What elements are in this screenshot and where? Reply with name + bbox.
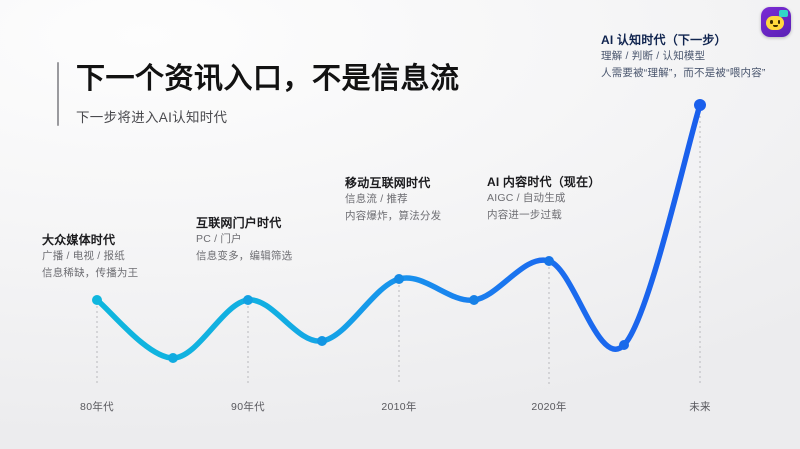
chart-data-point bbox=[469, 295, 479, 305]
chart-data-point bbox=[694, 99, 706, 111]
x-axis-tick-label: 未来 bbox=[689, 399, 711, 414]
annotation-era-web-portal: 互联网门户时代PC / 门户信息变多，编辑筛选 bbox=[196, 215, 292, 265]
annotation-era-ai-content: AI 内容时代（现在）AIGC / 自动生成内容进一步过载 bbox=[487, 174, 601, 224]
x-axis-tick-label: 80年代 bbox=[80, 399, 114, 414]
chart-data-point bbox=[317, 336, 327, 346]
annotation-detail: 理解 / 判断 / 认知模型 bbox=[601, 48, 766, 65]
chart-data-points bbox=[92, 99, 706, 363]
annotation-title: 互联网门户时代 bbox=[196, 215, 292, 231]
x-axis-tick-label: 2010年 bbox=[381, 399, 416, 414]
annotation-era-mass-media: 大众媒体时代广播 / 电视 / 报纸信息稀缺，传播为王 bbox=[42, 232, 138, 282]
annotation-era-ai-cognition: AI 认知时代（下一步）理解 / 判断 / 认知模型人需要被“理解”，而不是被“… bbox=[601, 32, 766, 82]
chart-data-point bbox=[168, 353, 178, 363]
annotation-detail: 内容爆炸，算法分发 bbox=[345, 208, 441, 225]
chart-data-point bbox=[92, 295, 102, 305]
annotation-detail: 人需要被“理解”，而不是被“喂内容” bbox=[601, 65, 766, 82]
chart-droplines bbox=[97, 111, 700, 385]
chart-data-point bbox=[619, 340, 629, 350]
annotation-detail: AIGC / 自动生成 bbox=[487, 190, 601, 207]
annotation-detail: PC / 门户 bbox=[196, 231, 292, 248]
annotation-title: AI 认知时代（下一步） bbox=[601, 32, 766, 48]
annotation-title: AI 内容时代（现在） bbox=[487, 174, 601, 190]
annotation-detail: 信息变多，编辑筛选 bbox=[196, 248, 292, 265]
x-axis-tick-label: 90年代 bbox=[231, 399, 265, 414]
annotation-title: 移动互联网时代 bbox=[345, 175, 441, 191]
annotation-detail: 内容进一步过载 bbox=[487, 207, 601, 224]
chart-data-point bbox=[243, 295, 253, 305]
annotation-detail: 信息稀缺，传播为王 bbox=[42, 265, 138, 282]
annotation-detail: 广播 / 电视 / 报纸 bbox=[42, 248, 138, 265]
chart-data-point bbox=[544, 256, 554, 266]
chart-data-point bbox=[394, 274, 404, 284]
annotation-era-mobile-internet: 移动互联网时代信息流 / 推荐内容爆炸，算法分发 bbox=[345, 175, 441, 225]
x-axis-tick-label: 2020年 bbox=[531, 399, 566, 414]
slide-canvas: 下一个资讯入口，不是信息流 下一步将进入AI认知时代 大众媒体时代广播 / 电视… bbox=[0, 0, 800, 449]
annotation-title: 大众媒体时代 bbox=[42, 232, 138, 248]
annotation-detail: 信息流 / 推荐 bbox=[345, 191, 441, 208]
